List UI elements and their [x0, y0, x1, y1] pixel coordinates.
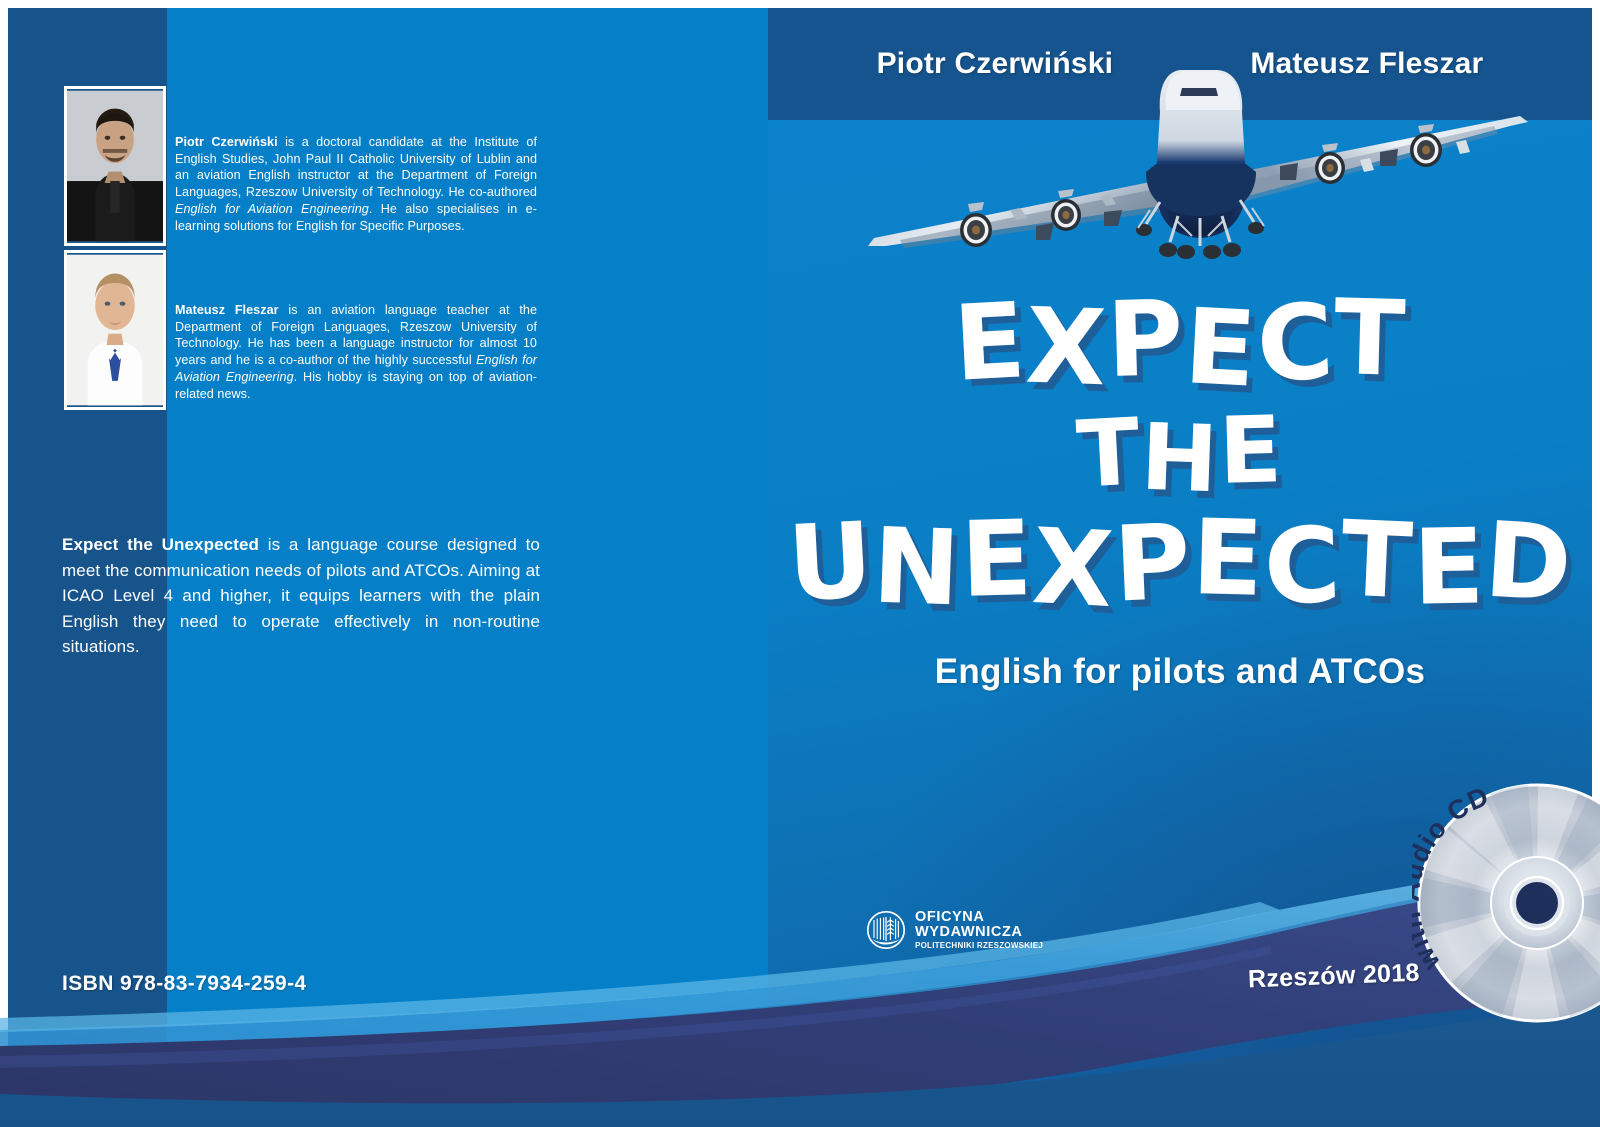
publisher-line-1: OFICYNA — [915, 910, 1043, 926]
title-char: C — [1254, 289, 1336, 396]
title-char: E — [1182, 294, 1259, 402]
book-subtitle: English for pilots and ATCOs — [768, 652, 1592, 692]
title-char: E — [1218, 404, 1284, 498]
title-char: P — [1112, 509, 1194, 616]
bottom-wave-graphics — [0, 880, 1600, 1127]
author-name-1: Piotr Czerwiński — [877, 47, 1114, 81]
title-line-2: THE — [768, 408, 1592, 500]
publisher-line-3: POLITECHNIKI RZESZOWSKIEJ — [915, 942, 1043, 951]
title-char: U — [785, 508, 876, 616]
title-line-1: EXPECT — [768, 290, 1592, 394]
book-blurb: Expect the Unexpected is a language cour… — [62, 532, 540, 660]
author-name-2: Mateusz Fleszar — [1250, 47, 1483, 81]
publisher-logo: OFICYNA WYDAWNICZA POLITECHNIKI RZESZOWS… — [866, 908, 1043, 952]
title-char: N — [871, 513, 963, 620]
title-char: T — [1075, 406, 1143, 501]
title-char: T — [1333, 285, 1408, 391]
title-char: E — [1190, 505, 1265, 611]
author-photo-2 — [64, 250, 166, 410]
title-char: E — [960, 506, 1035, 612]
title-char: E — [1412, 514, 1486, 619]
front-cover-authors: Piotr Czerwiński Mateusz Fleszar — [768, 8, 1592, 120]
author-bio-2: Mateusz Fleszar is an aviation language … — [175, 302, 537, 402]
title-char: H — [1139, 412, 1220, 507]
author-bio-1: Piotr Czerwiński is a doctoral candidate… — [175, 134, 537, 234]
author-photo-1 — [64, 86, 166, 246]
publisher-text: OFICYNA WYDAWNICZA POLITECHNIKI RZESZOWS… — [915, 910, 1043, 951]
title-char: E — [951, 288, 1028, 396]
blurb-bold-lead: Expect the Unexpected — [62, 535, 259, 554]
title-char: C — [1262, 513, 1343, 620]
title-char: X — [1030, 514, 1117, 622]
title-char: X — [1024, 294, 1109, 401]
title-char: P — [1106, 286, 1186, 392]
title-char: D — [1482, 507, 1576, 616]
book-title: EXPECT THE UNEXPECTED — [768, 290, 1592, 614]
audio-cd-badge: with Audio CD — [1412, 778, 1600, 1028]
book-cover: Piotr Czerwiński Mateusz Fleszar EXPECT … — [0, 0, 1600, 1127]
publisher-emblem-icon — [866, 908, 906, 952]
publisher-line-2: WYDAWNICZA — [915, 925, 1043, 941]
title-line-3: UNEXPECTED — [768, 510, 1592, 614]
title-char: T — [1339, 506, 1415, 613]
